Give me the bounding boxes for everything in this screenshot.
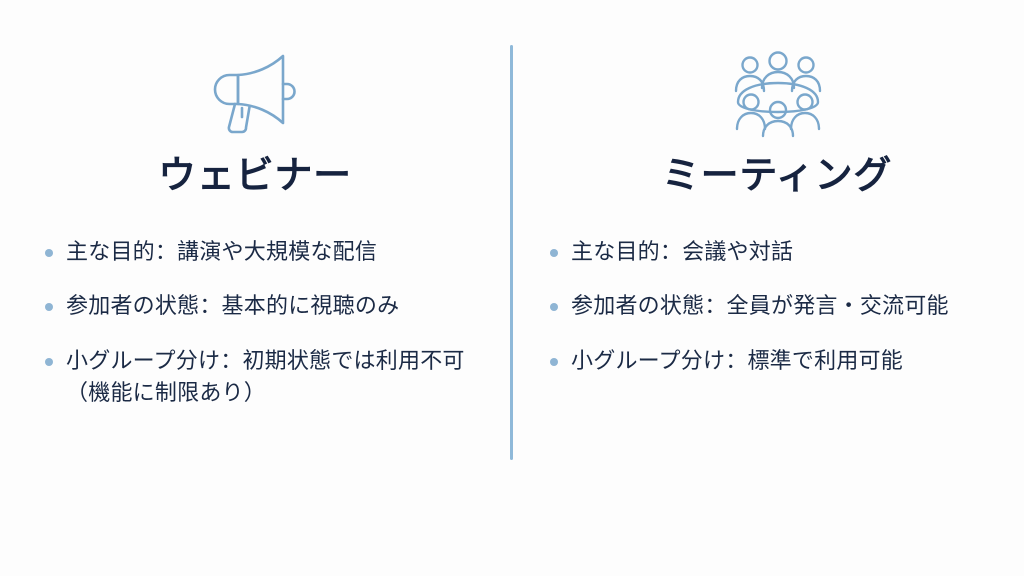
list-item: 主な目的：会議や対話 — [550, 236, 1010, 269]
list-item: 参加者の状態：全員が発言・交流可能 — [550, 290, 1010, 323]
bullet-dot-icon — [550, 303, 558, 311]
meeting-table-people-icon — [730, 50, 826, 138]
bullet-text: 小グループ分け：初期状態では利用不可（機能に制限あり） — [66, 345, 492, 410]
megaphone-icon — [209, 51, 305, 137]
column-webinar: ウェビナー 主な目的：講演や大規模な配信 参加者の状態：基本的に視聴のみ 小グル… — [0, 0, 512, 576]
bullet-dot-icon — [45, 249, 53, 257]
meeting-icon-wrap — [512, 48, 1024, 140]
bullet-list-webinar: 主な目的：講演や大規模な配信 参加者の状態：基本的に視聴のみ 小グループ分け：初… — [0, 236, 512, 432]
bullet-dot-icon — [550, 249, 558, 257]
column-title-meeting: ミーティング — [512, 156, 1024, 198]
list-item: 主な目的：講演や大規模な配信 — [45, 236, 492, 269]
bullet-text: 主な目的：講演や大規模な配信 — [66, 236, 377, 269]
column-meeting: ミーティング 主な目的：会議や対話 参加者の状態：全員が発言・交流可能 小グルー… — [512, 0, 1024, 576]
bullet-dot-icon — [550, 358, 558, 366]
bullet-dot-icon — [45, 358, 53, 366]
bullet-text: 参加者の状態：基本的に視聴のみ — [66, 290, 399, 323]
bullet-text: 小グループ分け：標準で利用可能 — [571, 345, 903, 378]
columns-container: ウェビナー 主な目的：講演や大規模な配信 参加者の状態：基本的に視聴のみ 小グル… — [0, 0, 1024, 576]
megaphone-icon-wrap — [0, 48, 512, 140]
bullet-list-meeting: 主な目的：会議や対話 参加者の状態：全員が発言・交流可能 小グループ分け：標準で… — [512, 236, 1024, 400]
list-item: 小グループ分け：標準で利用可能 — [550, 345, 1010, 378]
list-item: 参加者の状態：基本的に視聴のみ — [45, 290, 492, 323]
comparison-slide: ウェビナー 主な目的：講演や大規模な配信 参加者の状態：基本的に視聴のみ 小グル… — [0, 0, 1024, 576]
bullet-text: 参加者の状態：全員が発言・交流可能 — [571, 290, 949, 323]
list-item: 小グループ分け：初期状態では利用不可（機能に制限あり） — [45, 345, 492, 410]
bullet-text: 主な目的：会議や対話 — [571, 236, 793, 269]
bullet-dot-icon — [45, 303, 53, 311]
column-title-webinar: ウェビナー — [0, 156, 512, 198]
